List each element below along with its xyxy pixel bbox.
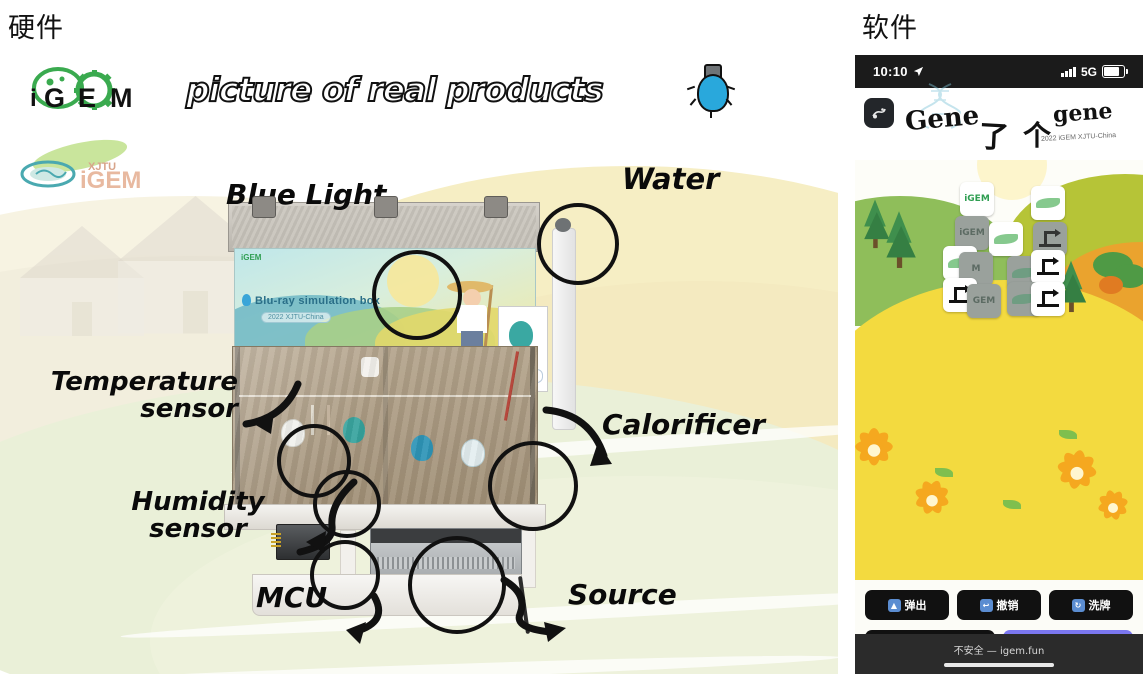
battery-icon xyxy=(1102,65,1125,78)
app-logo: Gene 了 个 gene 2022 iGEM XJTU-China xyxy=(901,90,1136,156)
url-text: 不安全 — igem.fun xyxy=(954,642,1045,657)
label-line-1: Temperature xyxy=(38,369,238,396)
tile-leaf-icon xyxy=(1036,198,1060,208)
leaf-shape xyxy=(935,468,953,477)
lid-clasp xyxy=(484,196,508,218)
bush-shape xyxy=(1099,276,1123,294)
game-button-row-1: ▲ 弹出 ↩ 撤销 ↻ 洗牌 xyxy=(855,590,1143,620)
tile-igem-icon: iGEM xyxy=(964,194,990,204)
lid-clasp xyxy=(252,196,276,218)
screenshot-root: 硬件 软件 xyxy=(0,0,1143,674)
label-humidity-sensor: Humidity sensor xyxy=(108,489,288,544)
mascot-sticker xyxy=(343,417,365,443)
banner-subtitle: 2022 XJTU-China xyxy=(261,312,331,323)
banner-igem-logo: iGEM xyxy=(241,253,261,262)
home-indicator[interactable] xyxy=(944,663,1054,667)
undo-arrow-icon: ↩ xyxy=(980,599,993,612)
shuffle-button-label: 洗牌 xyxy=(1089,597,1111,613)
highlight-circle-blue-light xyxy=(372,250,462,340)
triangle-up-icon: ▲ xyxy=(888,599,901,612)
highlight-circle-source xyxy=(408,536,506,634)
game-tile[interactable] xyxy=(989,222,1023,256)
logo-subtitle: 2022 iGEM XJTU-China xyxy=(1041,132,1116,143)
banner-title: Blu-ray simulation box xyxy=(255,295,380,307)
tile-igem-icon: GEM xyxy=(973,296,996,306)
lid-clasp xyxy=(374,196,398,218)
browser-bottom-bar: 不安全 — igem.fun xyxy=(855,634,1143,674)
label-line-1: Humidity xyxy=(108,489,288,516)
app-header: Gene 了 个 gene 2022 iGEM XJTU-China xyxy=(855,88,1143,160)
eject-button[interactable]: ▲ 弹出 xyxy=(865,590,949,620)
undo-button[interactable]: ↩ 撤销 xyxy=(957,590,1041,620)
svg-text:M: M xyxy=(110,83,133,113)
logo-word-gene-2: gene xyxy=(1052,98,1113,128)
pine-tree-icon xyxy=(886,211,911,243)
eject-button-label: 弹出 xyxy=(905,597,927,613)
svg-text:XJTU: XJTU xyxy=(88,161,116,173)
software-panel-heading: 软件 xyxy=(862,6,918,45)
igem-logo: i G E M xyxy=(22,66,162,126)
label-line-2: sensor xyxy=(108,516,288,543)
svg-text:i: i xyxy=(30,85,37,112)
signal-bars-icon xyxy=(1061,67,1076,77)
tile-promoter-icon xyxy=(1039,231,1061,247)
game-tile[interactable]: iGEM xyxy=(955,216,989,250)
tile-promoter-icon xyxy=(1037,259,1059,275)
game-ground xyxy=(855,280,1143,580)
status-network: 5G xyxy=(1081,65,1097,79)
mascot-sticker xyxy=(461,439,485,467)
leaf-shape xyxy=(1003,500,1021,509)
banner-bulb-icon xyxy=(242,294,251,306)
shuffle-button[interactable]: ↻ 洗牌 xyxy=(1049,590,1133,620)
svg-text:E: E xyxy=(78,83,96,113)
game-tile[interactable] xyxy=(1031,282,1065,316)
hardware-panel-heading: 硬件 xyxy=(8,6,64,45)
chamber-sensor xyxy=(361,357,379,377)
label-line-2: sensor xyxy=(38,396,238,423)
highlight-circle-water xyxy=(537,203,619,285)
chamber-wire xyxy=(504,351,519,420)
refresh-icon: ↻ xyxy=(1072,599,1085,612)
game-tile[interactable] xyxy=(1031,250,1065,284)
label-mcu: MCU xyxy=(256,583,327,612)
status-time: 10:10 xyxy=(873,64,908,79)
pine-tree-icon xyxy=(864,200,886,227)
software-panel: 10:10 5G xyxy=(855,55,1143,674)
xjtu-igem-logo: iGEM XJTU xyxy=(18,134,158,196)
label-water: Water xyxy=(622,164,719,194)
app-icon[interactable] xyxy=(864,98,894,128)
undo-button-label: 撤销 xyxy=(997,597,1019,613)
tile-igem-icon: M xyxy=(972,264,981,274)
label-blue-light: Blue Light xyxy=(226,180,386,209)
logo-word-ge: 个 xyxy=(1023,114,1051,154)
hardware-panel: i G E M iGEM XJTU picture of real produc… xyxy=(0,46,838,674)
mascot-sticker xyxy=(411,435,433,461)
game-tile[interactable]: GEM xyxy=(967,284,1001,318)
leaf-shape xyxy=(1059,430,1077,439)
tile-promoter-icon xyxy=(1037,291,1059,307)
game-view[interactable]: iGEM iGEM M GEM xyxy=(855,160,1143,674)
logo-word-gene-1: Gene xyxy=(904,101,981,137)
phone-status-bar: 10:10 5G xyxy=(855,55,1143,88)
logo-word-le: 了 xyxy=(978,111,1010,157)
tile-igem-icon: iGEM xyxy=(959,228,985,238)
label-calorificer: Calorificer xyxy=(602,410,765,439)
tile-leaf-icon xyxy=(994,234,1018,244)
label-source: Source xyxy=(568,580,677,609)
app-glyph-icon xyxy=(870,104,888,122)
location-arrow-icon xyxy=(913,66,924,77)
svg-text:G: G xyxy=(44,83,65,113)
arrow-mcu xyxy=(318,590,398,656)
label-temperature-sensor: Temperature sensor xyxy=(38,369,238,424)
game-tile[interactable]: iGEM xyxy=(960,182,994,216)
page-title: picture of real products xyxy=(186,70,603,109)
lightbulb-icon xyxy=(688,64,734,118)
game-tile[interactable] xyxy=(1031,186,1065,220)
